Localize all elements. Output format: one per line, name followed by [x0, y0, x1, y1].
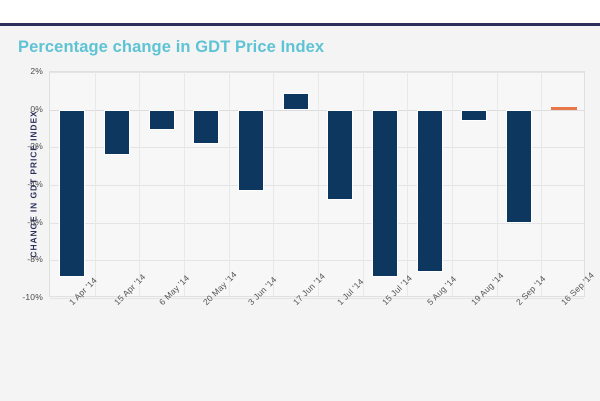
- y-axis-tick-labels: 2%0%-2%-4%-6%-8%-10%: [0, 71, 46, 297]
- bar: [193, 110, 219, 144]
- gridline-vertical: [273, 72, 274, 296]
- y-axis-tick-label: -10%: [22, 292, 43, 302]
- bar: [461, 110, 487, 121]
- bar: [372, 110, 398, 278]
- bar: [417, 110, 443, 272]
- gridline-horizontal: [50, 260, 584, 261]
- gridline-horizontal: [50, 185, 584, 186]
- gridline-vertical: [452, 72, 453, 296]
- bar: [104, 110, 130, 155]
- plot-area: [49, 71, 585, 297]
- y-axis-tick-label: -4%: [27, 179, 43, 189]
- bar: [59, 110, 85, 278]
- chart-card: Percentage change in GDT Price Index CHA…: [0, 26, 600, 401]
- gridline-vertical: [541, 72, 542, 296]
- gridline-vertical: [318, 72, 319, 296]
- gridline-horizontal: [50, 223, 584, 224]
- gridline-vertical: [95, 72, 96, 296]
- bar: [149, 110, 175, 131]
- y-axis-tick-label: 0%: [30, 104, 43, 114]
- gridline-horizontal: [50, 110, 584, 111]
- y-axis-tick-label: -8%: [27, 254, 43, 264]
- bar: [551, 107, 577, 110]
- y-axis-tick-label: 2%: [30, 66, 43, 76]
- chart-page: Percentage change in GDT Price Index CHA…: [0, 0, 600, 401]
- gridline-horizontal: [50, 298, 584, 299]
- gridline-vertical: [139, 72, 140, 296]
- x-axis-tick-labels: 1 Apr '1415 Apr '146 May '1420 May '143 …: [49, 300, 585, 380]
- bar: [327, 110, 353, 200]
- gridline-vertical: [363, 72, 364, 296]
- y-axis-tick-label: -2%: [27, 141, 43, 151]
- gridline-vertical: [229, 72, 230, 296]
- gridline-vertical: [184, 72, 185, 296]
- bar: [238, 110, 264, 191]
- gridline-vertical: [407, 72, 408, 296]
- bar: [506, 110, 532, 223]
- gridline-horizontal: [50, 72, 584, 73]
- gridline-vertical: [497, 72, 498, 296]
- page-title: Percentage change in GDT Price Index: [18, 38, 324, 57]
- bar: [283, 93, 309, 110]
- y-axis-tick-label: -6%: [27, 217, 43, 227]
- gridline-horizontal: [50, 147, 584, 148]
